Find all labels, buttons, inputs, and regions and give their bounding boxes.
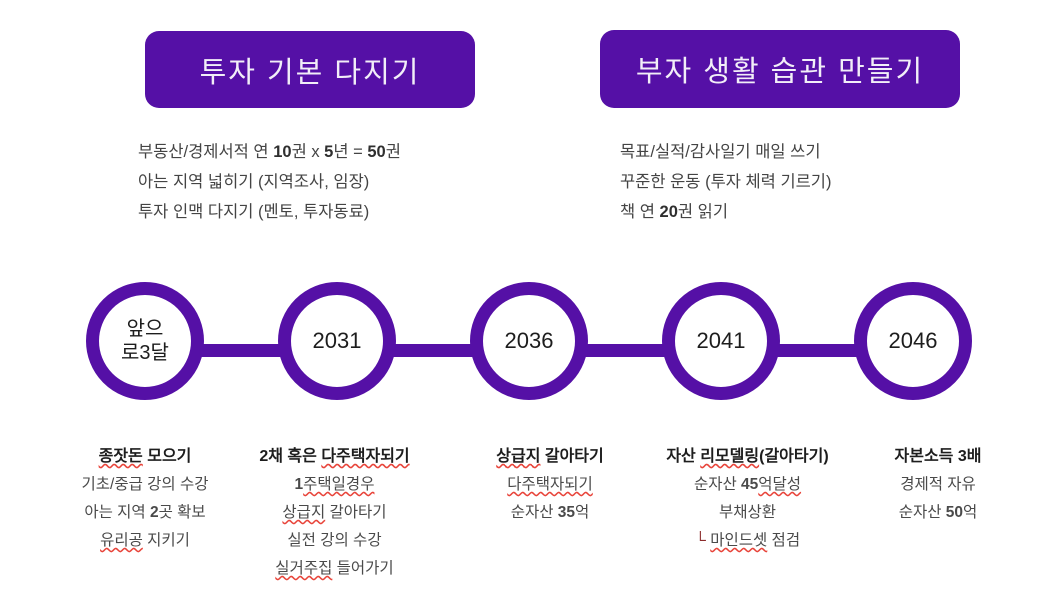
timeline-node-2046[interactable]: 2046 — [854, 282, 972, 400]
caption-heading: 종잣돈 모으기 — [55, 443, 235, 471]
caption-line: 1주택일경우 — [237, 471, 432, 499]
caption-line: 부채상환 — [635, 499, 860, 527]
banner-left-label: 투자 기본 다지기 — [200, 49, 421, 91]
timeline-node-2036[interactable]: 2036 — [470, 282, 588, 400]
note-line: 목표/실적/감사일기 매일 쓰기 — [620, 137, 832, 167]
tree-corner-icon: └ — [695, 532, 706, 549]
notes-rich-habits: 목표/실적/감사일기 매일 쓰기 꾸준한 운동 (투자 체력 기르기) 책 연 … — [620, 137, 832, 227]
caption-line: 기초/중급 강의 수강 — [55, 471, 235, 499]
caption-line: 실전 강의 수강 — [237, 527, 432, 555]
timeline-node-label: 2046 — [889, 328, 938, 354]
notes-investment-basics: 부동산/경제서적 연 10권 x 5년 = 50권 아는 지역 넓히기 (지역조… — [138, 137, 401, 227]
note-line: 투자 인맥 다지기 (멘토, 투자동료) — [138, 197, 401, 227]
caption-line: 상급지 갈아타기 — [237, 499, 432, 527]
timeline: 앞으로3달 2031 2036 2041 2046 — [0, 282, 1050, 417]
note-line: 부동산/경제서적 연 10권 x 5년 = 50권 — [138, 137, 401, 167]
caption-line: 아는 지역 2곳 확보 — [55, 499, 235, 527]
caption-line: 순자산 45억달성 — [635, 471, 860, 499]
timeline-node-label: 앞으로3달 — [121, 317, 169, 365]
caption-column-now: 종잣돈 모으기 기초/중급 강의 수강 아는 지역 2곳 확보 유리공 지키기 — [55, 443, 235, 555]
caption-line: 순자산 50억 — [858, 499, 1018, 527]
timeline-node-now[interactable]: 앞으로3달 — [86, 282, 204, 400]
banner-right-label: 부자 생활 습관 만들기 — [636, 48, 924, 90]
caption-line: 실거주집 들어가기 — [237, 555, 432, 583]
caption-heading: 자본소득 3배 — [858, 443, 1018, 471]
timeline-node-label: 2036 — [505, 328, 554, 354]
caption-line: 유리공 지키기 — [55, 527, 235, 555]
caption-column-2041: 자산 리모델링(갈아타기) 순자산 45억달성 부채상환 └ 마인드셋 점검 — [635, 443, 860, 555]
caption-heading: 자산 리모델링(갈아타기) — [635, 443, 860, 471]
caption-heading: 상급지 갈아타기 — [460, 443, 640, 471]
timeline-node-label: 2041 — [697, 328, 746, 354]
caption-line: 순자산 35억 — [460, 499, 640, 527]
caption-line: 다주택자되기 — [460, 471, 640, 499]
caption-line: └ 마인드셋 점검 — [635, 527, 860, 555]
caption-column-2036: 상급지 갈아타기 다주택자되기 순자산 35억 — [460, 443, 640, 527]
banner-investment-basics: 투자 기본 다지기 — [145, 31, 475, 108]
caption-column-2031: 2채 혹은 다주택자되기 1주택일경우 상급지 갈아타기 실전 강의 수강 실거… — [237, 443, 432, 583]
timeline-node-2041[interactable]: 2041 — [662, 282, 780, 400]
infographic-canvas: 투자 기본 다지기 부자 생활 습관 만들기 부동산/경제서적 연 10권 x … — [0, 0, 1050, 609]
note-line: 책 연 20권 읽기 — [620, 197, 832, 227]
timeline-node-2031[interactable]: 2031 — [278, 282, 396, 400]
note-line: 아는 지역 넓히기 (지역조사, 임장) — [138, 167, 401, 197]
banner-rich-habits: 부자 생활 습관 만들기 — [600, 30, 960, 108]
caption-heading: 2채 혹은 다주택자되기 — [237, 443, 432, 471]
caption-column-2046: 자본소득 3배 경제적 자유 순자산 50억 — [858, 443, 1018, 527]
note-line: 꾸준한 운동 (투자 체력 기르기) — [620, 167, 832, 197]
timeline-node-label: 2031 — [313, 328, 362, 354]
caption-line: 경제적 자유 — [858, 471, 1018, 499]
